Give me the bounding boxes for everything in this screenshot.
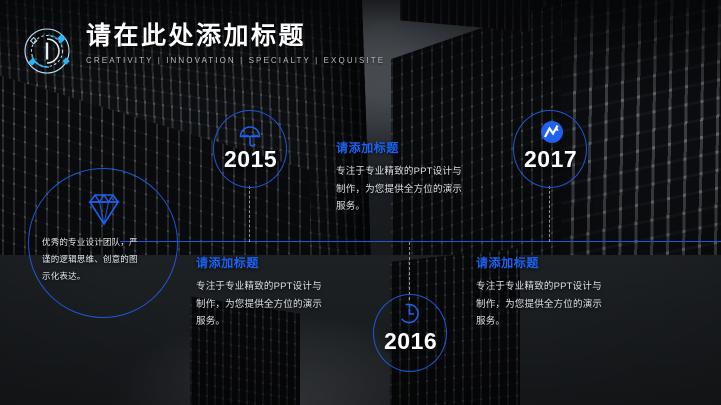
text-block-1-heading: 请添加标题 [336, 139, 468, 156]
text-block-3: 请添加标题 专注于专业精致的PPT设计与制作，为您提供全方位的演示服务。 [476, 254, 608, 331]
year-label-2017: 2017 [524, 146, 577, 173]
slide-canvas: 请在此处添加标题 CREATIVITY | INNOVATION | SPECI… [0, 0, 721, 405]
text-block-3-heading: 请添加标题 [476, 254, 608, 271]
text-block-2-body: 专注于专业精致的PPT设计与制作，为您提供全方位的演示服务。 [196, 278, 328, 331]
page-subtitle: CREATIVITY | INNOVATION | SPECIALTY | EX… [86, 56, 385, 65]
timeline-axis [120, 241, 721, 242]
text-block-1-body: 专注于专业精致的PPT设计与制作，为您提供全方位的演示服务。 [336, 163, 468, 216]
title-group: 请在此处添加标题 CREATIVITY | INNOVATION | SPECI… [86, 23, 385, 65]
page-title: 请在此处添加标题 [86, 23, 385, 51]
year-label-2015: 2015 [224, 146, 277, 173]
compass-circle-icon [18, 22, 76, 80]
year-label-2016: 2016 [384, 328, 437, 355]
connector-2017 [549, 186, 550, 242]
diamond-icon [86, 190, 122, 233]
text-block-1: 请添加标题 专注于专业精致的PPT设计与制作，为您提供全方位的演示服务。 [336, 139, 468, 216]
clock-history-icon [397, 301, 422, 331]
connector-2015 [249, 186, 250, 242]
intro-text-block: 优秀的专业设计团队，严谨的逻辑思维、创意的图示化表达。 [42, 234, 146, 285]
connector-2016 [409, 242, 410, 300]
text-block-2: 请添加标题 专注于专业精致的PPT设计与制作，为您提供全方位的演示服务。 [196, 254, 328, 331]
intro-body: 优秀的专业设计团队，严谨的逻辑思维、创意的图示化表达。 [42, 234, 146, 285]
text-block-3-body: 专注于专业精致的PPT设计与制作，为您提供全方位的演示服务。 [476, 278, 608, 331]
growth-chart-badge-icon [540, 120, 564, 149]
text-block-2-heading: 请添加标题 [196, 254, 328, 271]
